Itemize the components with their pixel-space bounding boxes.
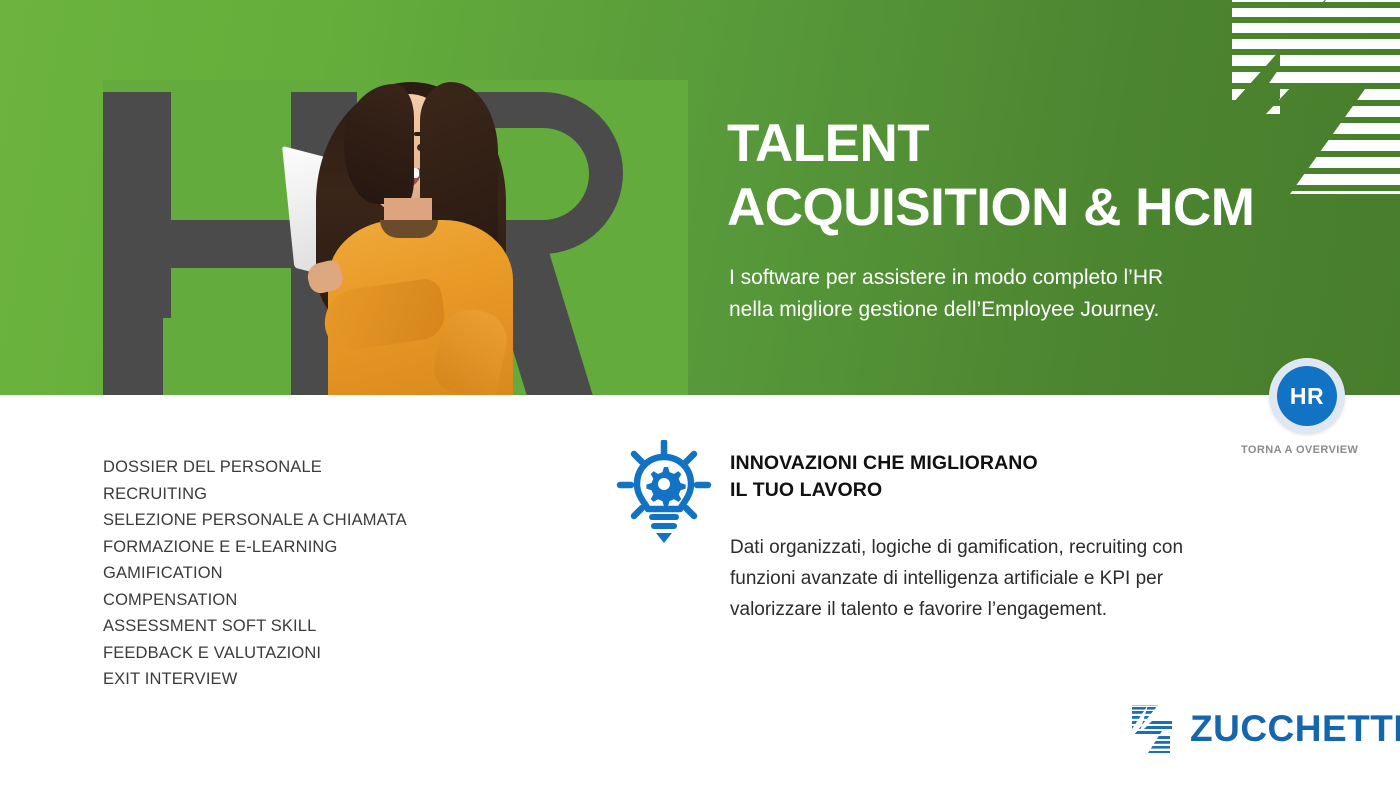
panel-body-line1: Dati organizzati, logiche di gamificatio… xyxy=(730,532,1260,563)
panel-body-line3: valorizzare il talento e favorire l’enga… xyxy=(730,594,1260,625)
back-to-overview-label: TORNA A OVERVIEW xyxy=(1241,444,1351,456)
photo-hair-left xyxy=(344,84,414,204)
panel-heading-line1: INNOVAZIONI CHE MIGLIORANO xyxy=(730,450,1250,477)
zucchetti-mark-icon xyxy=(1118,701,1176,757)
list-item[interactable]: GAMIFICATION xyxy=(103,560,407,587)
list-item[interactable]: EXIT INTERVIEW xyxy=(103,666,407,693)
hero-title-line2: ACQUISITION & HCM xyxy=(727,176,1327,240)
list-item[interactable]: COMPENSATION xyxy=(103,587,407,614)
hero-subtitle: I software per assistere in modo complet… xyxy=(729,262,1289,325)
photo-person xyxy=(288,80,533,395)
hero-subtitle-line1: I software per assistere in modo complet… xyxy=(729,262,1289,294)
list-item[interactable]: RECRUITING xyxy=(103,481,407,508)
panel-heading-line2: IL TUO LAVORO xyxy=(730,477,1250,504)
list-item[interactable]: FEEDBACK E VALUTAZIONI xyxy=(103,640,407,667)
panel-heading: INNOVAZIONI CHE MIGLIORANO IL TUO LAVORO xyxy=(730,450,1250,504)
hero-title-line1: TALENT xyxy=(727,114,929,173)
panel-body: Dati organizzati, logiche di gamificatio… xyxy=(730,532,1260,625)
slide-root: TALENT ACQUISITION & HCM I software per … xyxy=(0,0,1400,785)
list-item[interactable]: DOSSIER DEL PERSONALE xyxy=(103,454,407,481)
list-item[interactable]: SELEZIONE PERSONALE A CHIAMATA xyxy=(103,507,407,534)
zucchetti-logo: ZUCCHETTI xyxy=(1118,700,1380,758)
hero-band: TALENT ACQUISITION & HCM I software per … xyxy=(0,0,1400,395)
zucchetti-wordmark: ZUCCHETTI xyxy=(1190,708,1400,750)
hr-badge-label: HR xyxy=(1277,366,1337,426)
hero-subtitle-line2: nella migliore gestione dell’Employee Jo… xyxy=(729,294,1289,326)
back-to-overview-button[interactable]: HR TORNA A OVERVIEW xyxy=(1263,358,1351,456)
hero-title: TALENT ACQUISITION & HCM xyxy=(727,112,1327,239)
lightbulb-gear-icon xyxy=(616,440,712,545)
panel-body-line2: funzioni avanzate di intelligenza artifi… xyxy=(730,563,1260,594)
hr-badge-ring: HR xyxy=(1269,358,1345,434)
list-item[interactable]: ASSESSMENT SOFT SKILL xyxy=(103,613,407,640)
list-item[interactable]: FORMAZIONE E E-LEARNING xyxy=(103,534,407,561)
photo-collar xyxy=(380,220,438,238)
feature-list: DOSSIER DEL PERSONALE RECRUITING SELEZIO… xyxy=(103,454,407,693)
hero-photo xyxy=(103,80,688,395)
